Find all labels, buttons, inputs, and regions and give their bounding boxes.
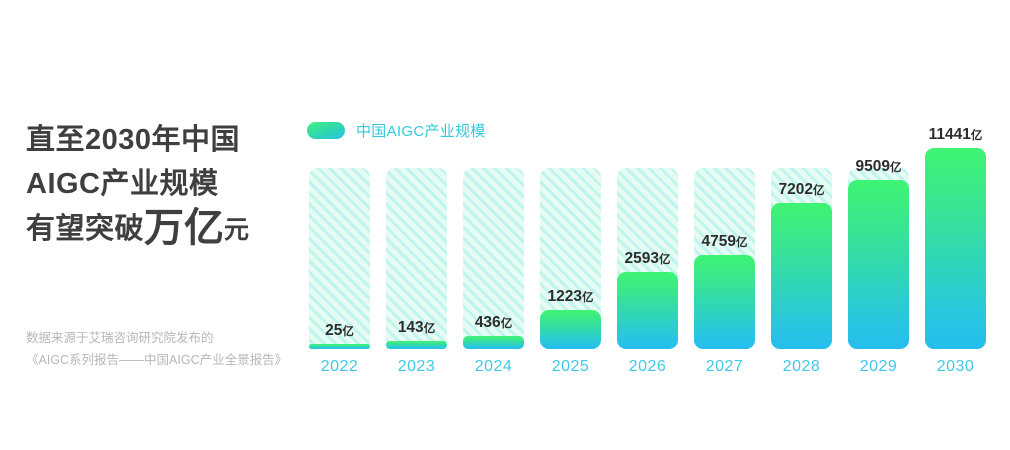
bar-group-2023: 143亿2023 bbox=[386, 0, 447, 450]
bar-group-2028: 7202亿2028 bbox=[771, 0, 832, 450]
bar[interactable] bbox=[617, 272, 678, 349]
bar-value-unit: 亿 bbox=[424, 323, 436, 335]
infographic-canvas: 直至2030年中国 AIGC产业规模 有望突破万亿元 数据来源于艾瑞咨询研究院发… bbox=[0, 0, 1010, 450]
bar-value-unit: 亿 bbox=[736, 237, 748, 249]
bar[interactable] bbox=[771, 203, 832, 349]
bar-value-number: 25 bbox=[325, 322, 342, 339]
bar-value-label: 143亿 bbox=[386, 319, 447, 337]
bar-value-label: 7202亿 bbox=[771, 181, 832, 199]
bar[interactable] bbox=[309, 344, 370, 349]
bar-value-label: 11441亿 bbox=[925, 126, 986, 144]
x-axis-label-2023: 2023 bbox=[386, 358, 447, 376]
bar-value-unit: 亿 bbox=[342, 326, 354, 338]
bar[interactable] bbox=[925, 148, 986, 349]
bar-value-number: 1223 bbox=[548, 288, 582, 305]
bar-value-label: 436亿 bbox=[463, 314, 524, 332]
bar-value-label: 25亿 bbox=[309, 322, 370, 340]
bar-group-2026: 2593亿2026 bbox=[617, 0, 678, 450]
x-axis-label-2030: 2030 bbox=[925, 358, 986, 376]
x-axis-label-2022: 2022 bbox=[309, 358, 370, 376]
bar-value-label: 2593亿 bbox=[617, 250, 678, 268]
bar-value-label: 9509亿 bbox=[848, 158, 909, 176]
bar-value-unit: 亿 bbox=[813, 185, 825, 197]
bar[interactable] bbox=[848, 180, 909, 349]
bar-value-unit: 亿 bbox=[501, 318, 513, 330]
bar-value-unit: 亿 bbox=[659, 254, 671, 266]
bar-value-number: 9509 bbox=[856, 158, 890, 175]
x-axis-label-2025: 2025 bbox=[540, 358, 601, 376]
x-axis-label-2027: 2027 bbox=[694, 358, 755, 376]
bar-value-number: 4759 bbox=[702, 233, 736, 250]
bar-value-number: 143 bbox=[398, 319, 424, 336]
x-axis-label-2028: 2028 bbox=[771, 358, 832, 376]
bar-group-2029: 9509亿2029 bbox=[848, 0, 909, 450]
bar[interactable] bbox=[386, 341, 447, 349]
x-axis-label-2029: 2029 bbox=[848, 358, 909, 376]
bar-value-number: 11441 bbox=[929, 126, 971, 143]
x-axis-label-2024: 2024 bbox=[463, 358, 524, 376]
bar-group-2024: 436亿2024 bbox=[463, 0, 524, 450]
bar[interactable] bbox=[463, 336, 524, 349]
bar-value-unit: 亿 bbox=[971, 130, 983, 142]
bar[interactable] bbox=[540, 310, 601, 349]
x-axis-label-2026: 2026 bbox=[617, 358, 678, 376]
bar-group-2030: 11441亿2030 bbox=[925, 0, 986, 450]
bar-group-2027: 4759亿2027 bbox=[694, 0, 755, 450]
bar-value-unit: 亿 bbox=[890, 162, 902, 174]
bar-group-2025: 1223亿2025 bbox=[540, 0, 601, 450]
bar[interactable] bbox=[694, 255, 755, 349]
bar-value-number: 2593 bbox=[625, 250, 659, 267]
bar-value-number: 7202 bbox=[779, 181, 813, 198]
bar-value-number: 436 bbox=[475, 314, 501, 331]
bar-value-label: 4759亿 bbox=[694, 233, 755, 251]
bar-value-unit: 亿 bbox=[582, 292, 594, 304]
bar-chart: 25亿2022143亿2023436亿20241223亿20252593亿202… bbox=[0, 0, 1010, 450]
bar-value-label: 1223亿 bbox=[540, 288, 601, 306]
bar-group-2022: 25亿2022 bbox=[309, 0, 370, 450]
